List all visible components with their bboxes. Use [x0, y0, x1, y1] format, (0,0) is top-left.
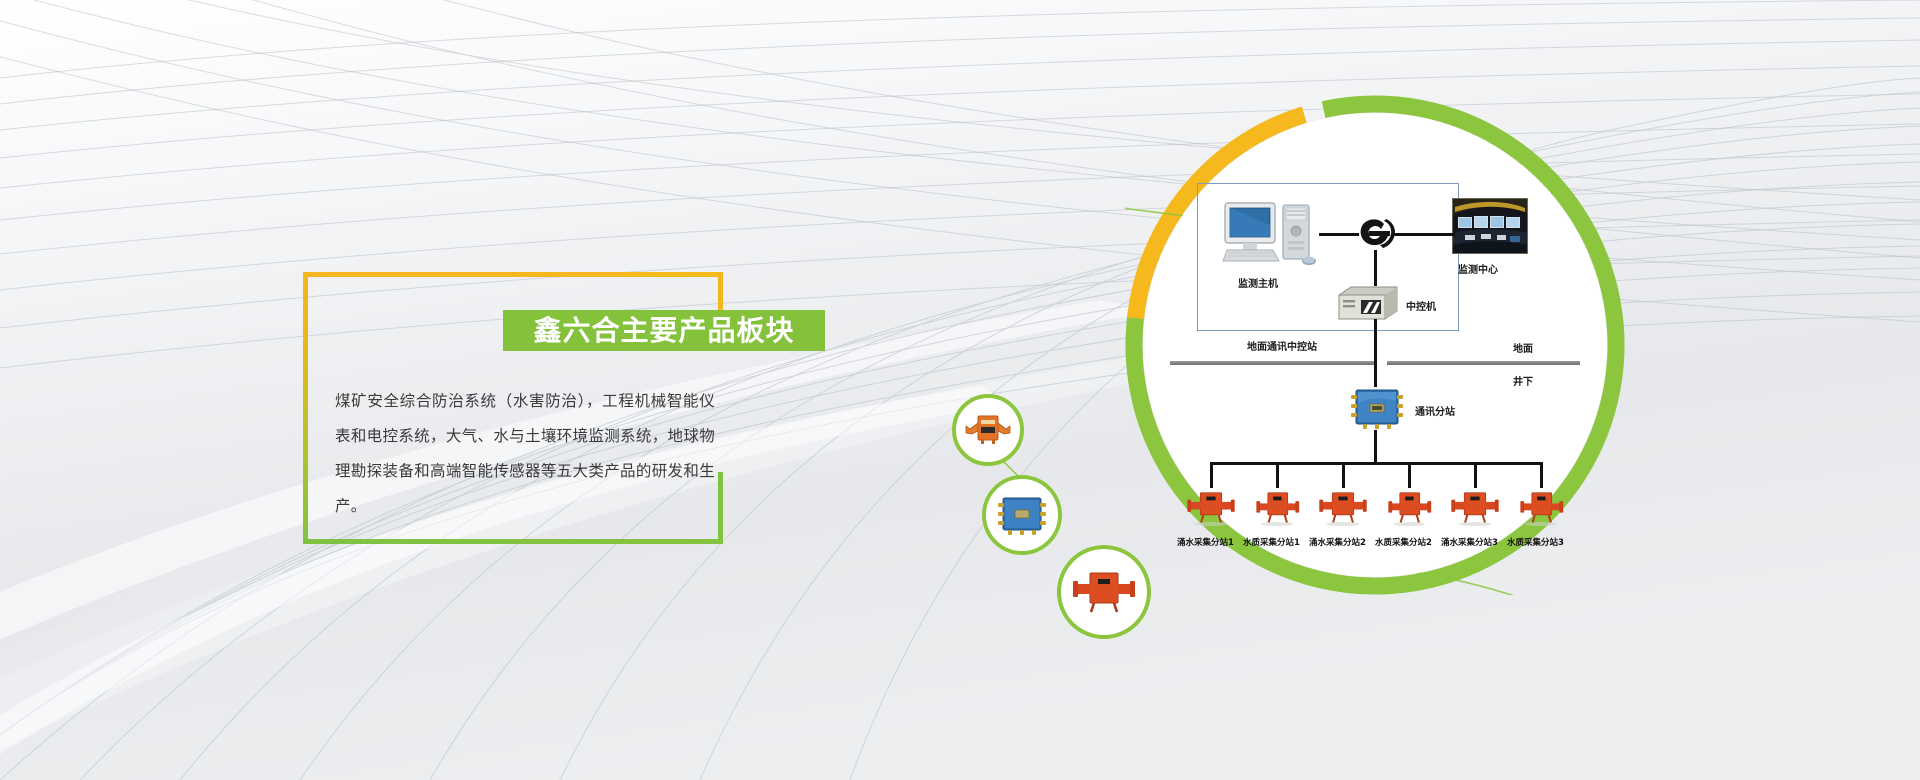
desktop-computer-icon [1221, 199, 1329, 271]
red-collection-station-icon [1449, 486, 1501, 530]
wire-host-to-internet [1319, 233, 1359, 236]
system-architecture-diagram: 监测主机 中控机 [1125, 95, 1625, 595]
label-substation-1: 涌水采集分站1 [1177, 536, 1234, 548]
red-collection-station-icon [1317, 486, 1369, 530]
wire-internet-to-center [1393, 233, 1455, 236]
label-surface-station: 地面通讯中控站 [1247, 338, 1317, 353]
label-substation-6: 水质采集分站3 [1507, 536, 1564, 548]
red-collection-station-icon [1515, 486, 1567, 530]
background-texture [0, 0, 1920, 780]
control-room-photo-icon [1453, 199, 1527, 253]
panel-frame-top [303, 272, 723, 277]
comm-substation-node [1347, 385, 1407, 438]
central-control-node [1337, 283, 1399, 328]
wire-drop-3 [1342, 462, 1345, 488]
background-swoosh-pattern [0, 0, 1920, 780]
ground-line-left [1170, 361, 1377, 365]
label-substation-2: 水质采集分站1 [1243, 536, 1300, 548]
product-bubble-blue-junction-box[interactable] [982, 475, 1062, 555]
table-row [1185, 486, 1237, 530]
wire-drop-6 [1540, 462, 1543, 488]
wire-drop-1 [1210, 462, 1213, 488]
label-substation-5: 涌水采集分站3 [1441, 536, 1498, 548]
table-row [1251, 486, 1303, 530]
wire-drop-2 [1276, 462, 1279, 488]
panel-frame-right-upper [718, 272, 723, 310]
panel-description: 煤矿安全综合防治系统（水害防治），工程机械智能仪表和电控系统，大气、水与土壤环境… [335, 384, 715, 524]
ground-line-right [1387, 361, 1580, 365]
label-surface-zone: 地面 [1513, 340, 1533, 355]
wire-internet-to-control [1374, 250, 1377, 286]
wire-drop-4 [1408, 462, 1411, 488]
section-title-banner: 鑫六合主要产品板块 [503, 310, 825, 351]
label-underground-zone: 井下 [1513, 373, 1533, 388]
label-substation-3: 涌水采集分站2 [1309, 536, 1366, 548]
panel-frame-right-lower [718, 472, 723, 544]
table-row [1383, 486, 1435, 530]
page-title: 鑫六合主要产品板块 [533, 317, 794, 345]
blue-comm-substation-icon [1347, 385, 1407, 433]
label-central-control: 中控机 [1406, 298, 1436, 313]
panel-frame-bottom [303, 539, 723, 544]
blue-junction-box-icon [994, 492, 1050, 538]
product-overview-panel: 鑫六合主要产品板块 煤矿安全综合防治系统（水害防治），工程机械智能仪表和电控系统… [303, 272, 723, 544]
red-collection-station-icon [1383, 486, 1435, 530]
monitor-host-node [1221, 199, 1329, 276]
orange-sensor-device-icon [963, 413, 1013, 447]
wire-horizontal-bus [1210, 462, 1542, 465]
label-comm-substation: 通讯分站 [1415, 403, 1455, 418]
table-row [1449, 486, 1501, 530]
table-row [1317, 486, 1369, 530]
red-collection-station-icon [1185, 486, 1237, 530]
label-substation-4: 水质采集分站2 [1375, 536, 1432, 548]
label-monitor-center: 监测中心 [1458, 261, 1498, 276]
product-bubble-orange-sensor[interactable] [952, 394, 1024, 466]
table-row [1515, 486, 1567, 530]
wire-drop-5 [1474, 462, 1477, 488]
panel-frame-left [303, 272, 308, 544]
red-collection-station-icon [1251, 486, 1303, 530]
wire-substation-to-bus [1374, 430, 1377, 464]
wire-control-to-substation [1374, 319, 1377, 387]
server-chassis-icon [1337, 283, 1399, 323]
label-monitor-host: 监测主机 [1238, 275, 1278, 290]
monitor-center-node [1452, 198, 1528, 254]
